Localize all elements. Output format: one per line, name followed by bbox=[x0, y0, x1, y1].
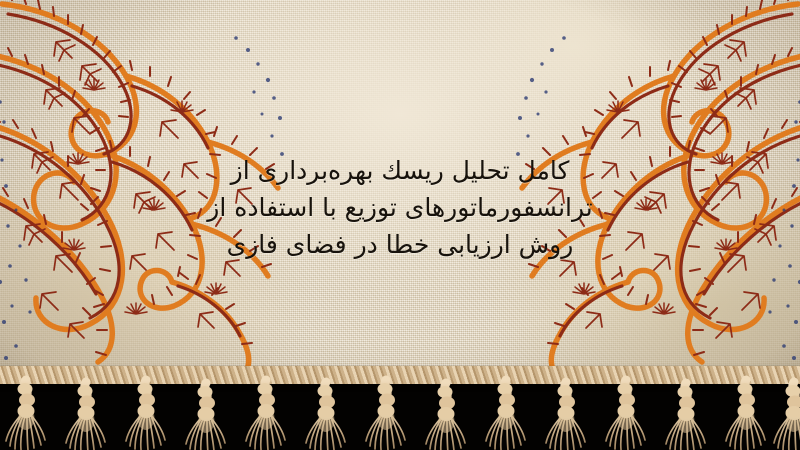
title-line-1: کامل تحلیل ریسك بهره‌برداری از bbox=[100, 152, 700, 189]
tassel-fringe bbox=[0, 372, 800, 450]
title-line-2: ترانسفورماتورهای توزیع با استفاده از bbox=[100, 189, 700, 226]
title-text-block: کامل تحلیل ریسك بهره‌برداری از ترانسفورم… bbox=[100, 152, 700, 263]
title-card: کامل تحلیل ریسك بهره‌برداری از ترانسفورم… bbox=[0, 0, 800, 450]
title-line-3: روش ارزیابی خطا در فضای فازی bbox=[100, 226, 700, 263]
tassel-group bbox=[6, 380, 800, 450]
